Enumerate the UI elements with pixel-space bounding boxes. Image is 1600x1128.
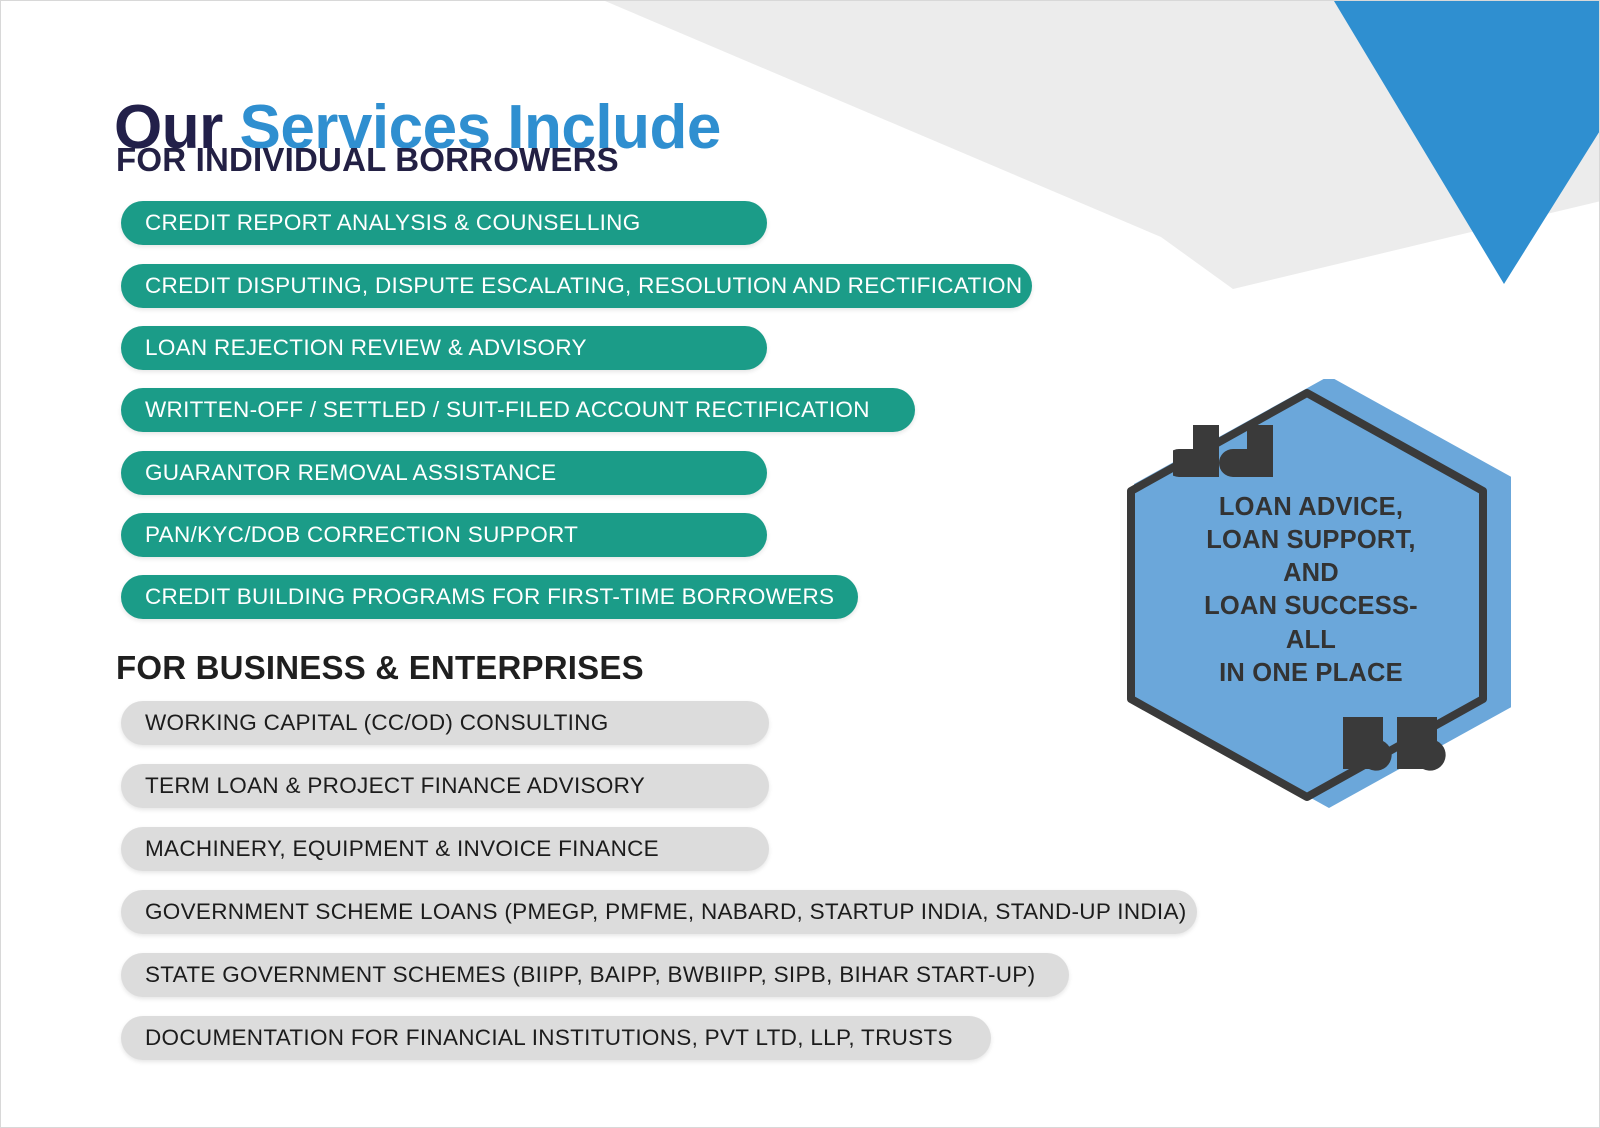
service-pill[interactable]: WRITTEN-OFF / SETTLED / SUIT-FILED ACCOU… bbox=[121, 388, 915, 432]
service-pill[interactable]: MACHINERY, EQUIPMENT & INVOICE FINANCE bbox=[121, 827, 769, 871]
service-pill-label: TERM LOAN & PROJECT FINANCE ADVISORY bbox=[145, 773, 645, 799]
service-pill-label: LOAN REJECTION REVIEW & ADVISORY bbox=[145, 335, 587, 361]
blue-triangle-shape bbox=[1334, 1, 1600, 284]
quote-badge-line: LOAN SUPPORT, bbox=[1161, 524, 1461, 557]
section-heading-individual: FOR INDIVIDUAL BORROWERS bbox=[116, 141, 619, 179]
section-heading-business: FOR BUSINESS & ENTERPRISES bbox=[116, 649, 644, 687]
gray-diagonal-shape bbox=[605, 1, 1600, 289]
slide-canvas: Our Services Include FOR INDIVIDUAL BORR… bbox=[0, 0, 1600, 1128]
service-pill[interactable]: CREDIT REPORT ANALYSIS & COUNSELLING bbox=[121, 201, 767, 245]
service-pill-label: DOCUMENTATION FOR FINANCIAL INSTITUTIONS… bbox=[145, 1025, 953, 1051]
service-pill[interactable]: STATE GOVERNMENT SCHEMES (BIIPP, BAIPP, … bbox=[121, 953, 1069, 997]
service-pill-label: PAN/KYC/DOB CORRECTION SUPPORT bbox=[145, 522, 578, 548]
quote-badge-line: IN ONE PLACE bbox=[1161, 657, 1461, 690]
service-pill[interactable]: WORKING CAPITAL (CC/OD) CONSULTING bbox=[121, 701, 769, 745]
service-pill-label: CREDIT BUILDING PROGRAMS FOR FIRST-TIME … bbox=[145, 584, 834, 610]
quote-badge-line: LOAN ADVICE, bbox=[1161, 491, 1461, 524]
close-quote-icon bbox=[1337, 703, 1447, 783]
quote-badge-line: LOAN SUCCESS- bbox=[1161, 590, 1461, 623]
open-quote-icon bbox=[1173, 411, 1283, 491]
service-pill[interactable]: PAN/KYC/DOB CORRECTION SUPPORT bbox=[121, 513, 767, 557]
quote-badge-line: ALL bbox=[1161, 624, 1461, 657]
quote-badge-line: AND bbox=[1161, 557, 1461, 590]
service-pill-label: GUARANTOR REMOVAL ASSISTANCE bbox=[145, 460, 556, 486]
service-pill[interactable]: GUARANTOR REMOVAL ASSISTANCE bbox=[121, 451, 767, 495]
service-pill[interactable]: GOVERNMENT SCHEME LOANS (PMEGP, PMFME, N… bbox=[121, 890, 1197, 934]
service-pill-label: WRITTEN-OFF / SETTLED / SUIT-FILED ACCOU… bbox=[145, 397, 870, 423]
service-pill[interactable]: TERM LOAN & PROJECT FINANCE ADVISORY bbox=[121, 764, 769, 808]
service-pill[interactable]: LOAN REJECTION REVIEW & ADVISORY bbox=[121, 326, 767, 370]
quote-badge-text: LOAN ADVICE,LOAN SUPPORT,ANDLOAN SUCCESS… bbox=[1161, 491, 1461, 690]
service-pill[interactable]: DOCUMENTATION FOR FINANCIAL INSTITUTIONS… bbox=[121, 1016, 991, 1060]
service-pill[interactable]: CREDIT DISPUTING, DISPUTE ESCALATING, RE… bbox=[121, 264, 1032, 308]
service-pill-label: WORKING CAPITAL (CC/OD) CONSULTING bbox=[145, 710, 609, 736]
service-pill-label: CREDIT DISPUTING, DISPUTE ESCALATING, RE… bbox=[145, 273, 1022, 299]
service-pill-label: GOVERNMENT SCHEME LOANS (PMEGP, PMFME, N… bbox=[145, 899, 1187, 925]
service-pill-label: CREDIT REPORT ANALYSIS & COUNSELLING bbox=[145, 210, 641, 236]
service-pill-label: STATE GOVERNMENT SCHEMES (BIIPP, BAIPP, … bbox=[145, 962, 1035, 988]
service-pill[interactable]: CREDIT BUILDING PROGRAMS FOR FIRST-TIME … bbox=[121, 575, 858, 619]
quote-badge: LOAN ADVICE,LOAN SUPPORT,ANDLOAN SUCCESS… bbox=[1111, 379, 1511, 811]
service-pill-label: MACHINERY, EQUIPMENT & INVOICE FINANCE bbox=[145, 836, 659, 862]
